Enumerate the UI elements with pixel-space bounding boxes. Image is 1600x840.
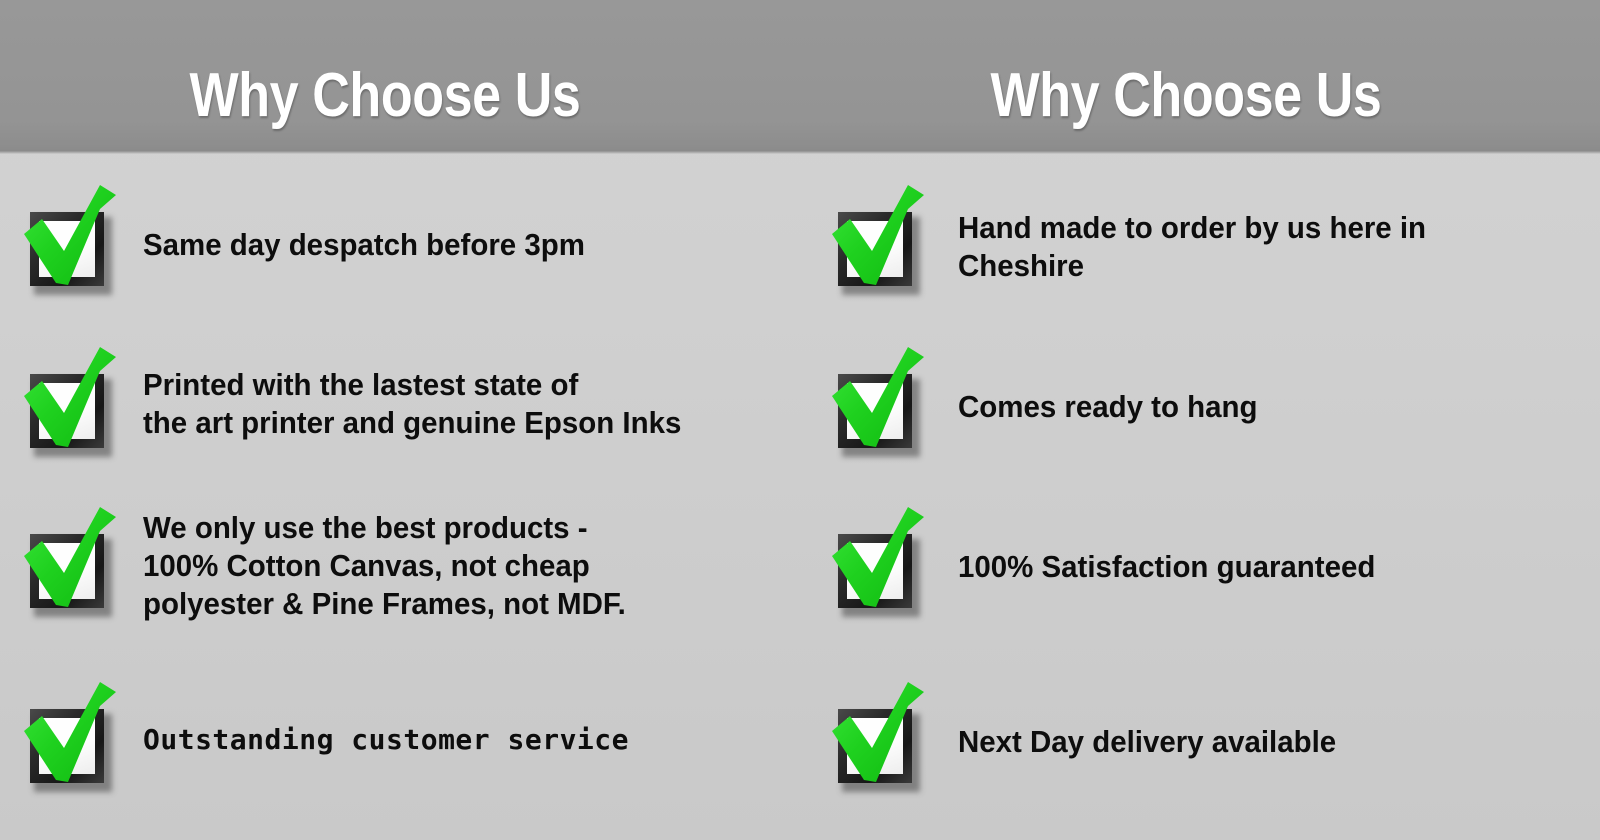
benefit-item: Next Day delivery available: [830, 676, 1356, 796]
benefit-text: Outstanding customer service: [143, 676, 629, 759]
header-left-panel: Why Choose Us: [0, 0, 800, 151]
benefit-item: 100% Satisfaction guaranteed: [830, 501, 1397, 621]
green-check-icon: [22, 179, 118, 299]
benefit-item: Comes ready to hang: [830, 341, 1273, 461]
green-check-icon: [22, 341, 118, 461]
tick-mark-icon: [830, 676, 926, 796]
green-check-icon: [830, 179, 926, 299]
benefit-item: Printed with the lastest state of the ar…: [22, 341, 710, 461]
green-check-icon: [830, 341, 926, 461]
benefits-columns: Same day despatch before 3pm Printed wit…: [0, 151, 1600, 840]
tick-mark-icon: [22, 501, 118, 621]
header-right-panel: Why Choose Us: [800, 0, 1600, 151]
tick-mark-icon: [22, 341, 118, 461]
tick-mark-icon: [830, 179, 926, 299]
page-title-right: Why Choose Us: [850, 65, 1522, 127]
benefit-item: Same day despatch before 3pm: [22, 179, 608, 299]
benefit-item: Outstanding customer service: [22, 676, 629, 796]
benefits-column-left: Same day despatch before 3pm Printed wit…: [0, 151, 800, 840]
tick-mark-icon: [830, 501, 926, 621]
benefits-column-right: Hand made to order by us here in Cheshir…: [800, 151, 1600, 840]
benefit-text: Hand made to order by us here in Cheshir…: [958, 179, 1426, 285]
benefit-text: Same day despatch before 3pm: [143, 179, 585, 264]
benefit-item: We only use the best products - 100% Cot…: [22, 501, 651, 623]
tick-mark-icon: [22, 179, 118, 299]
benefit-text: 100% Satisfaction guaranteed: [958, 501, 1375, 586]
benefit-text: Printed with the lastest state of the ar…: [143, 341, 681, 442]
tick-mark-icon: [22, 676, 118, 796]
benefit-item: Hand made to order by us here in Cheshir…: [830, 179, 1451, 299]
benefit-text: Next Day delivery available: [958, 676, 1336, 761]
page-title-left: Why Choose Us: [49, 65, 721, 127]
why-choose-us-banner: Why Choose Us Why Choose Us: [0, 0, 1600, 840]
benefit-text: We only use the best products - 100% Cot…: [143, 501, 626, 623]
green-check-icon: [830, 676, 926, 796]
green-check-icon: [830, 501, 926, 621]
benefit-text: Comes ready to hang: [958, 341, 1257, 426]
green-check-icon: [22, 501, 118, 621]
green-check-icon: [22, 676, 118, 796]
tick-mark-icon: [830, 341, 926, 461]
header-band: Why Choose Us Why Choose Us: [0, 0, 1600, 151]
